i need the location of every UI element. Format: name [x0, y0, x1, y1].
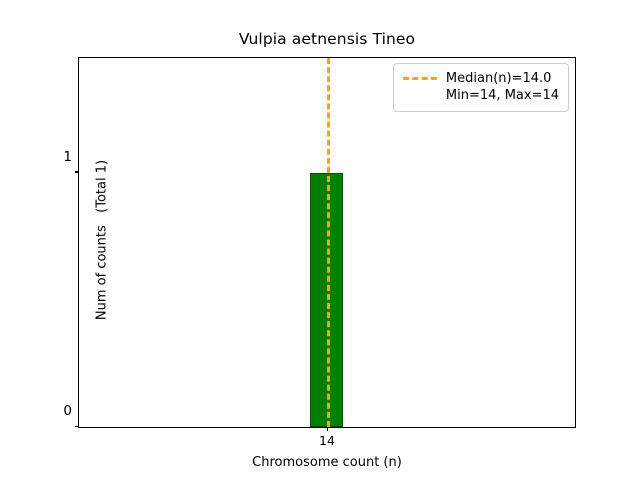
plot-area: 0 1 14 Median(n)=14.0 Min=14, Max=14: [78, 57, 576, 428]
legend-entry-minmax: Min=14, Max=14: [403, 87, 559, 104]
median-line: [327, 58, 330, 427]
x-axis-label: Chromosome count (n): [78, 455, 576, 470]
legend-entry-median: Median(n)=14.0: [403, 70, 559, 87]
legend-label-median: Median(n)=14.0: [446, 71, 552, 86]
y-axis-label-line2: (Total 1): [95, 160, 110, 213]
ytick-label-1: 1: [63, 149, 72, 165]
ytick-mark-0: [75, 426, 79, 427]
legend: Median(n)=14.0 Min=14, Max=14: [393, 63, 569, 112]
ytick-mark-1: [75, 171, 79, 172]
dashed-line-icon: [403, 73, 437, 85]
xtick-mark-14: [327, 427, 328, 431]
legend-label-minmax: Min=14, Max=14: [446, 88, 559, 103]
ytick-label-0: 0: [63, 403, 72, 419]
y-axis-label-line1: Num of counts: [95, 225, 110, 320]
y-axis-label: Num of counts (Total 1): [95, 160, 110, 320]
xtick-label-14: 14: [319, 433, 335, 448]
chart-figure: Vulpia aetnensis Tineo 0 1 14 Median(n)=…: [0, 0, 640, 480]
chart-title: Vulpia aetnensis Tineo: [78, 30, 576, 48]
